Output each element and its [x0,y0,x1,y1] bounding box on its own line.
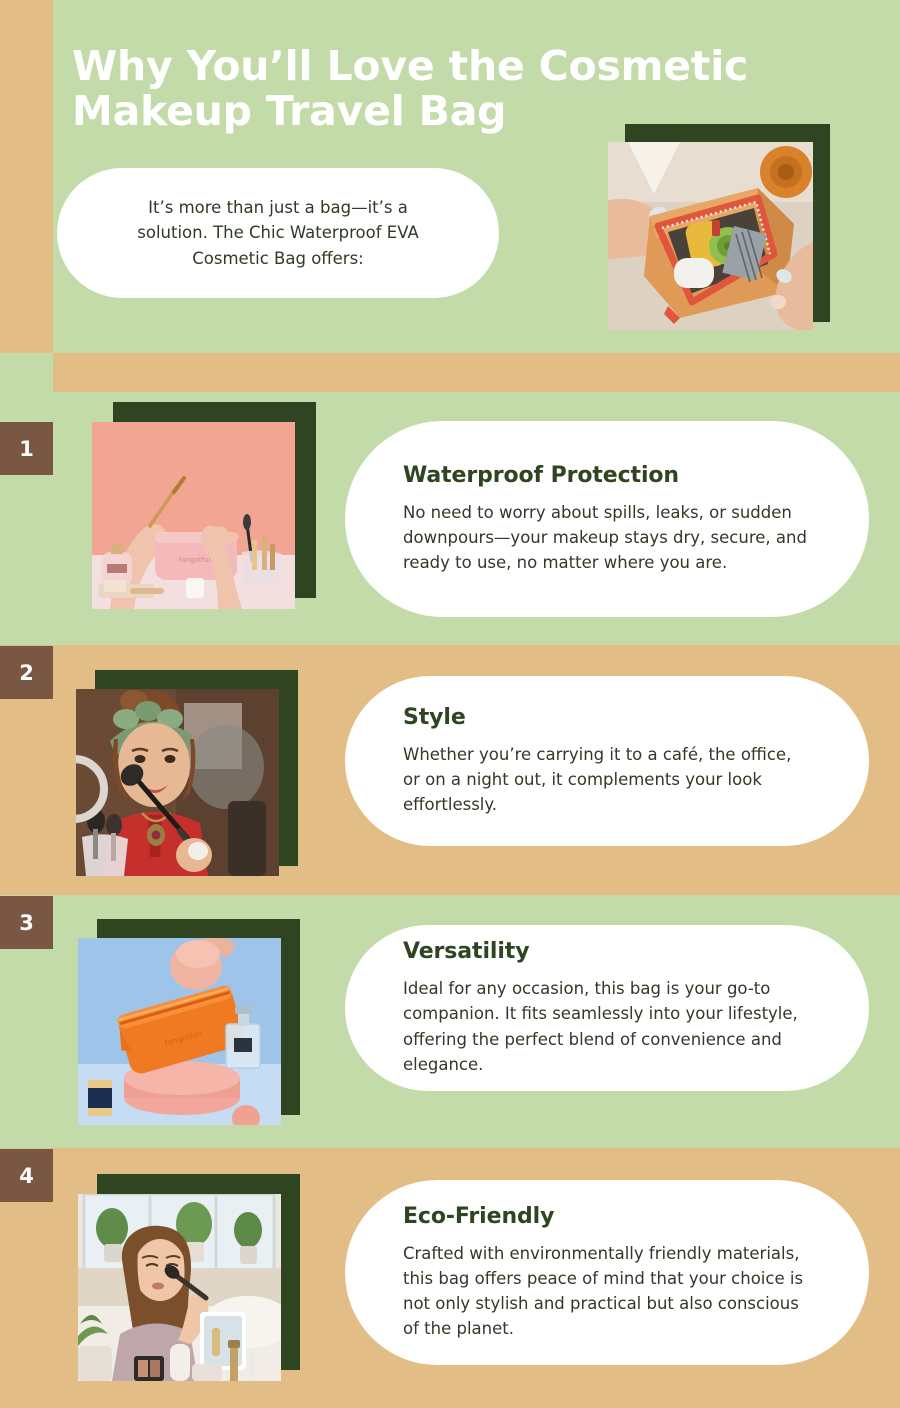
feature-heading-2: Style [403,705,811,730]
feature-photo-2-illustration [76,689,279,876]
feature-card-3: Versatility Ideal for any occasion, this… [345,925,869,1091]
feature-card-4: Eco-Friendly Crafted with environmentall… [345,1180,869,1365]
feature-heading-4: Eco-Friendly [403,1204,811,1229]
header-photo-illustration [608,142,813,330]
feature-body-3: Ideal for any occasion, this bag is your… [403,976,811,1076]
feature-photo-4-illustration [78,1194,281,1381]
intro-text: It’s more than just a bag—it’s a solutio… [111,195,445,272]
page-title: Why You’ll Love the Cosmetic Makeup Trav… [72,44,832,134]
feature-photo-4 [78,1194,281,1381]
intro-bubble: It’s more than just a bag—it’s a solutio… [57,168,499,298]
feature-number-badge-4: 4 [0,1149,53,1202]
feature-body-1: No need to worry about spills, leaks, or… [403,500,811,575]
header-photo [608,142,813,330]
feature-card-1: Waterproof Protection No need to worry a… [345,421,869,617]
feature-number-badge-2: 2 [0,646,53,699]
feature-photo-3: fangotfun [78,938,281,1125]
feature-number-badge-1: 1 [0,422,53,475]
feature-photo-1-illustration: fangotfun [92,422,295,609]
header-left-rail [0,0,53,353]
feature-card-2: Style Whether you’re carrying it to a ca… [345,676,869,846]
infographic-poster: Why You’ll Love the Cosmetic Makeup Trav… [0,0,900,1408]
feature-body-2: Whether you’re carrying it to a café, th… [403,742,811,817]
feature-number-badge-3: 3 [0,896,53,949]
feature-body-4: Crafted with environmentally friendly ma… [403,1241,811,1341]
feature-photo-2 [76,689,279,876]
feature-photo-1: fangotfun [92,422,295,609]
svg-text:fangotfun: fangotfun [179,556,213,564]
feature-heading-1: Waterproof Protection [403,463,811,488]
divider-tan-stripe [53,353,900,392]
feature-heading-3: Versatility [403,939,811,964]
feature-photo-3-illustration: fangotfun [78,938,281,1125]
